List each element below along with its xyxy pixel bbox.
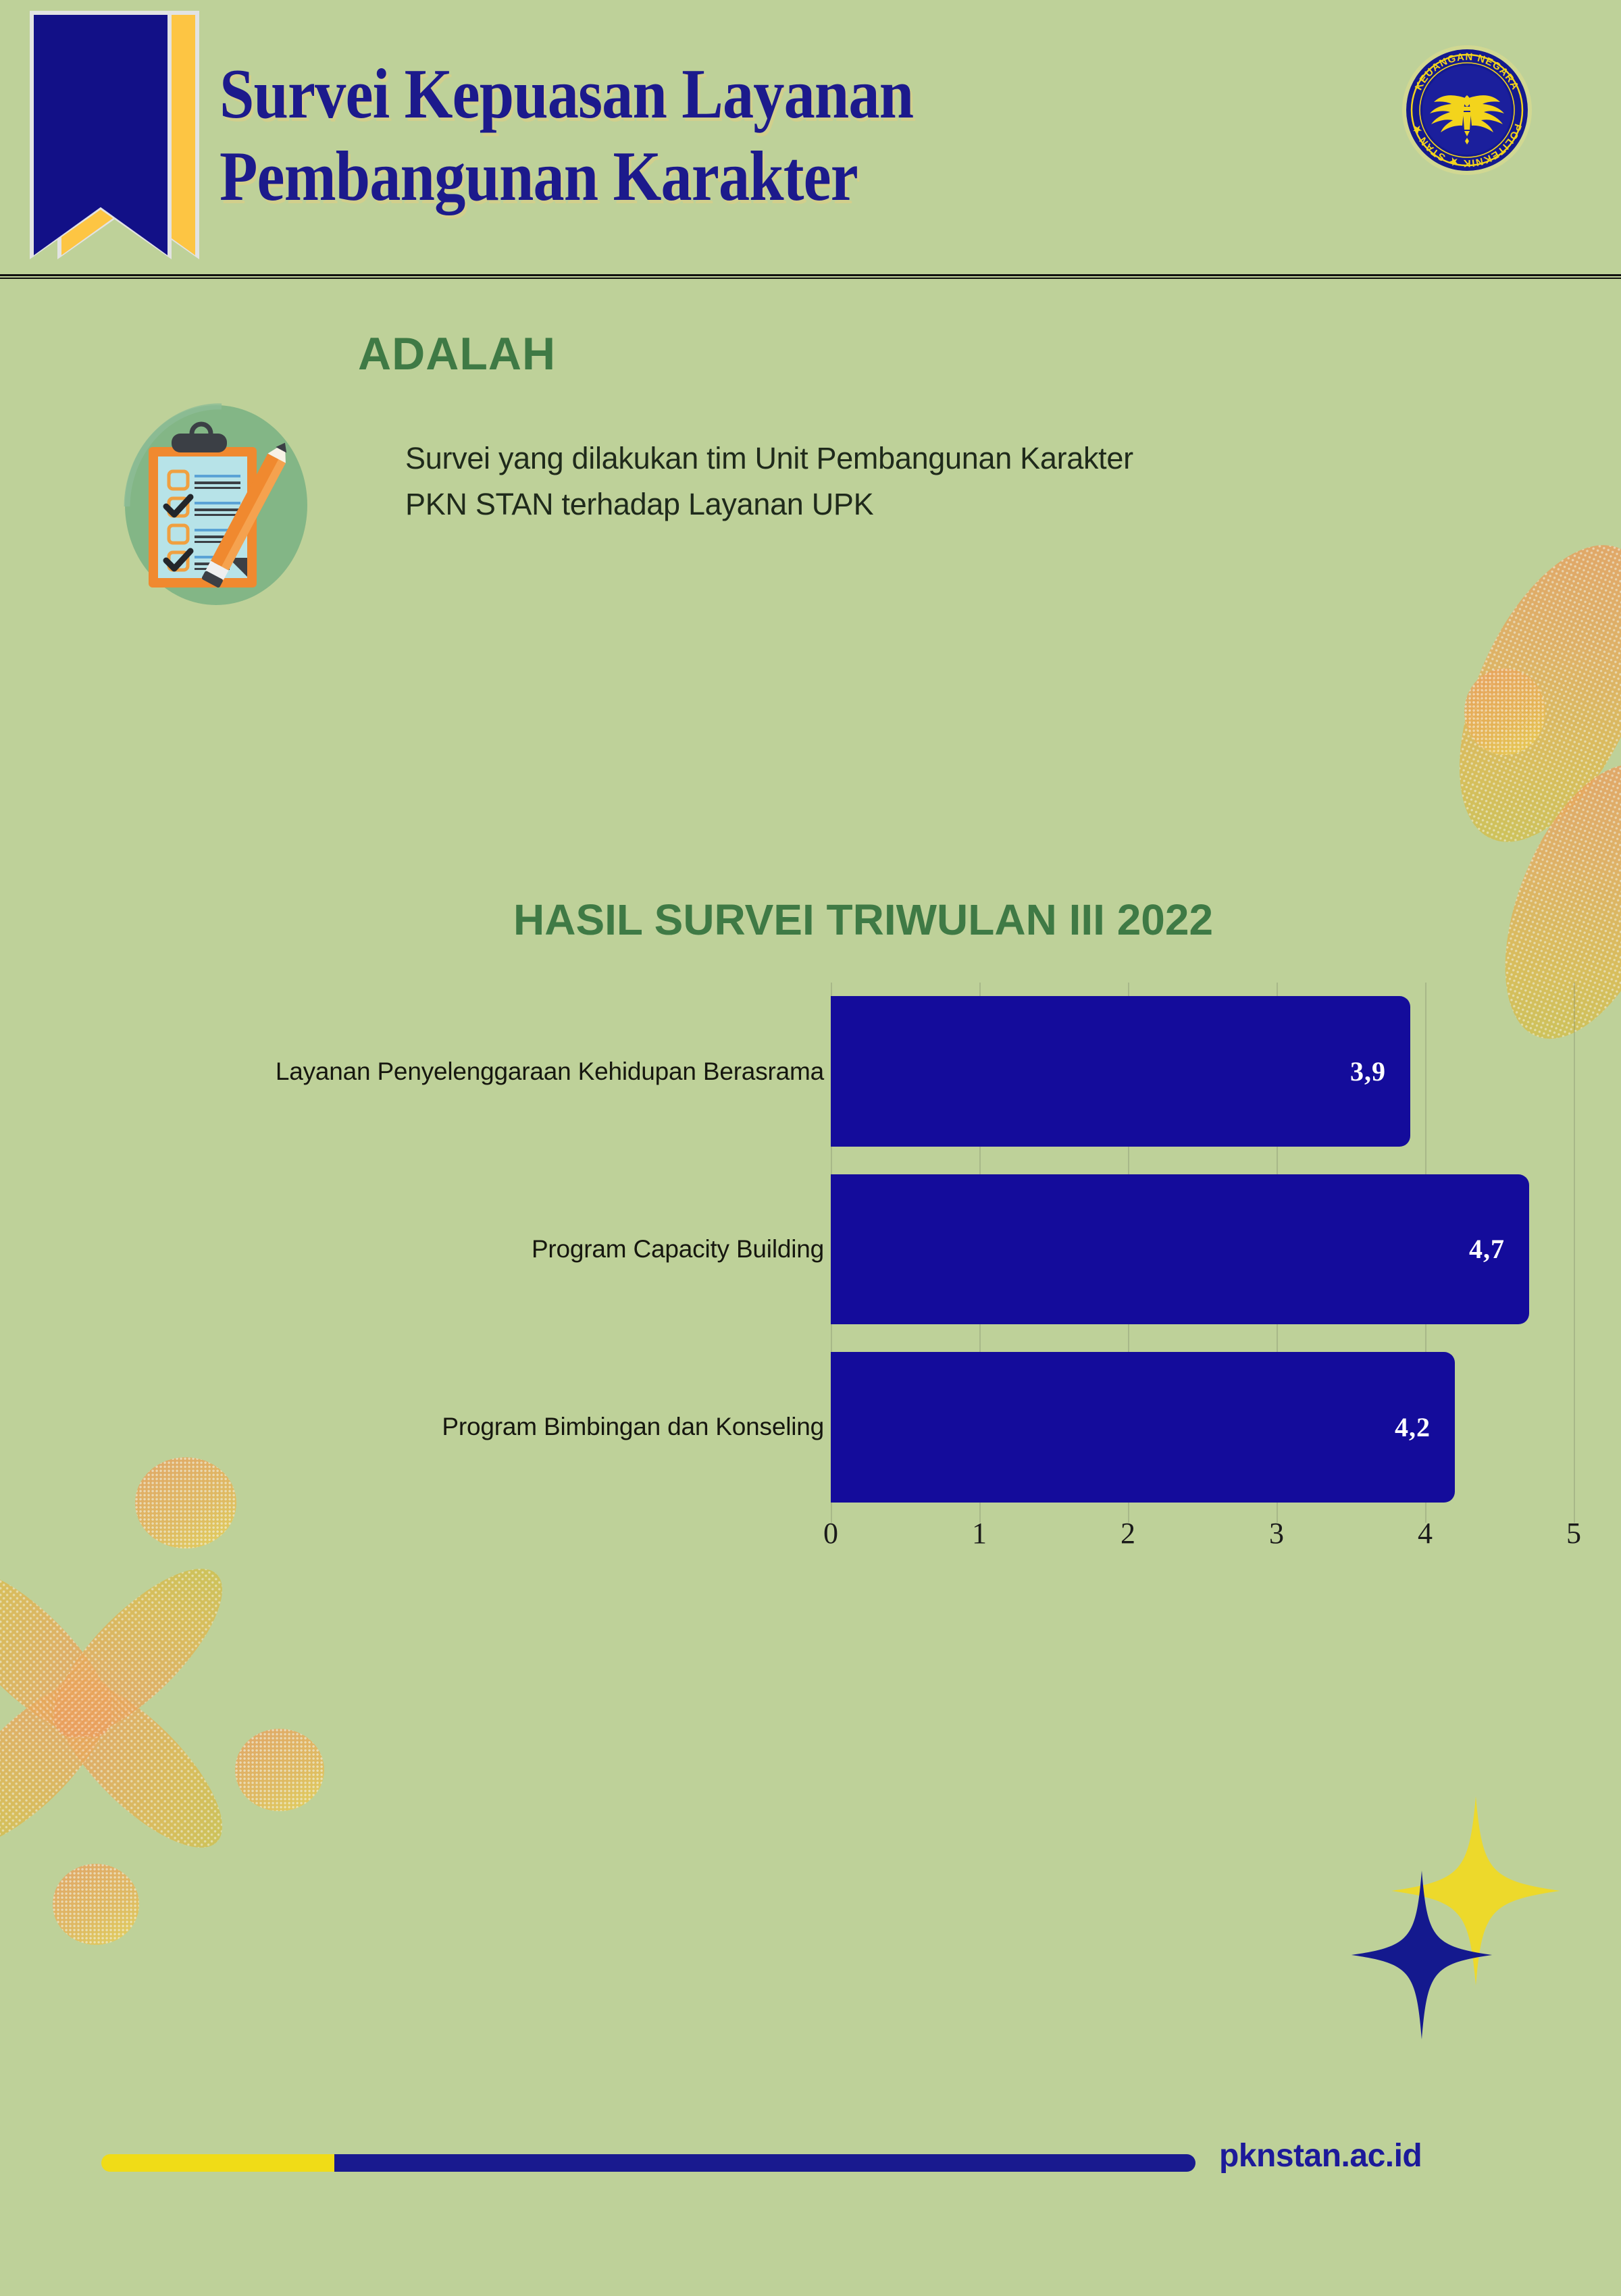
clipboard-checklist-icon xyxy=(108,392,324,608)
chart-bar[interactable]: 3,9 xyxy=(831,996,1410,1147)
chart-bar[interactable]: 4,2 xyxy=(831,1352,1455,1503)
chart-bar-value-label: 3,9 xyxy=(1350,1055,1386,1087)
footer-bar-yellow-segment xyxy=(101,2154,334,2172)
chart-bar-row: Program Bimbingan dan Konseling4,2 xyxy=(831,1352,1574,1503)
x-axis-tick-label: 2 xyxy=(1121,1516,1135,1550)
adalah-heading: ADALAH xyxy=(358,328,556,380)
sparkle-star-navy-icon xyxy=(1351,1871,1493,2039)
page-title-line-1: Survei Kepuasan Layanan xyxy=(220,53,1147,135)
infographic-poster: Survei Kepuasan Layanan Pembangunan Kara… xyxy=(0,0,1621,2296)
footer-bar-navy-segment xyxy=(334,2154,1195,2172)
petal-decoration xyxy=(1420,517,1621,870)
x-axis-tick-label: 1 xyxy=(972,1516,987,1550)
x-axis-tick-label: 4 xyxy=(1418,1516,1433,1550)
adalah-description-line-1: Survei yang dilakukan tim Unit Pembangun… xyxy=(405,436,1418,481)
chart-category-label: Program Bimbingan dan Konseling xyxy=(442,1413,824,1441)
pkn-stan-seal-icon: KEUANGAN NEGARA POLITEKNIK ★ STAN ★ xyxy=(1399,39,1535,181)
chart-bar-value-label: 4,2 xyxy=(1395,1411,1431,1443)
header-divider xyxy=(0,274,1621,279)
chart-bars: Layanan Penyelenggaraan Kehidupan Berasr… xyxy=(831,983,1574,1523)
poster-header: Survei Kepuasan Layanan Pembangunan Kara… xyxy=(0,0,1621,280)
chart-bar[interactable]: 4,7 xyxy=(831,1174,1529,1325)
chart-bar-row: Layanan Penyelenggaraan Kehidupan Berasr… xyxy=(831,996,1574,1147)
page-title: Survei Kepuasan Layanan Pembangunan Kara… xyxy=(220,53,1147,217)
chart-title: HASIL SURVEI TRIWULAN III 2022 xyxy=(513,895,1213,945)
page-title-line-2: Pembangunan Karakter xyxy=(220,135,1147,217)
x-axis-tick-label: 5 xyxy=(1566,1516,1581,1550)
chart-category-label: Program Capacity Building xyxy=(532,1235,824,1263)
chart-category-label: Layanan Penyelenggaraan Kehidupan Berasr… xyxy=(276,1058,824,1086)
adalah-description: Survei yang dilakukan tim Unit Pembangun… xyxy=(405,436,1418,527)
adalah-description-line-2: PKN STAN terhadap Layanan UPK xyxy=(405,481,1418,527)
footer-accent-bar xyxy=(101,2154,1195,2172)
chart-bar-value-label: 4,7 xyxy=(1469,1233,1505,1265)
footer-website-url[interactable]: pknstan.ac.id xyxy=(1219,2137,1422,2174)
x-axis-tick-label: 0 xyxy=(823,1516,838,1550)
chart-bar-row: Program Capacity Building4,7 xyxy=(831,1174,1574,1325)
chart-gridline xyxy=(1574,983,1575,1523)
chart-plot-area: Layanan Penyelenggaraan Kehidupan Berasr… xyxy=(831,983,1574,1523)
x-axis-tick-label: 3 xyxy=(1269,1516,1284,1550)
survey-bar-chart: Layanan Penyelenggaraan Kehidupan Berasr… xyxy=(169,983,1574,1523)
bookmark-ribbon xyxy=(20,11,203,261)
flower-decoration xyxy=(0,1573,297,1952)
circle-decoration xyxy=(1464,669,1545,755)
chart-x-axis: 012345 xyxy=(831,1516,1574,1563)
